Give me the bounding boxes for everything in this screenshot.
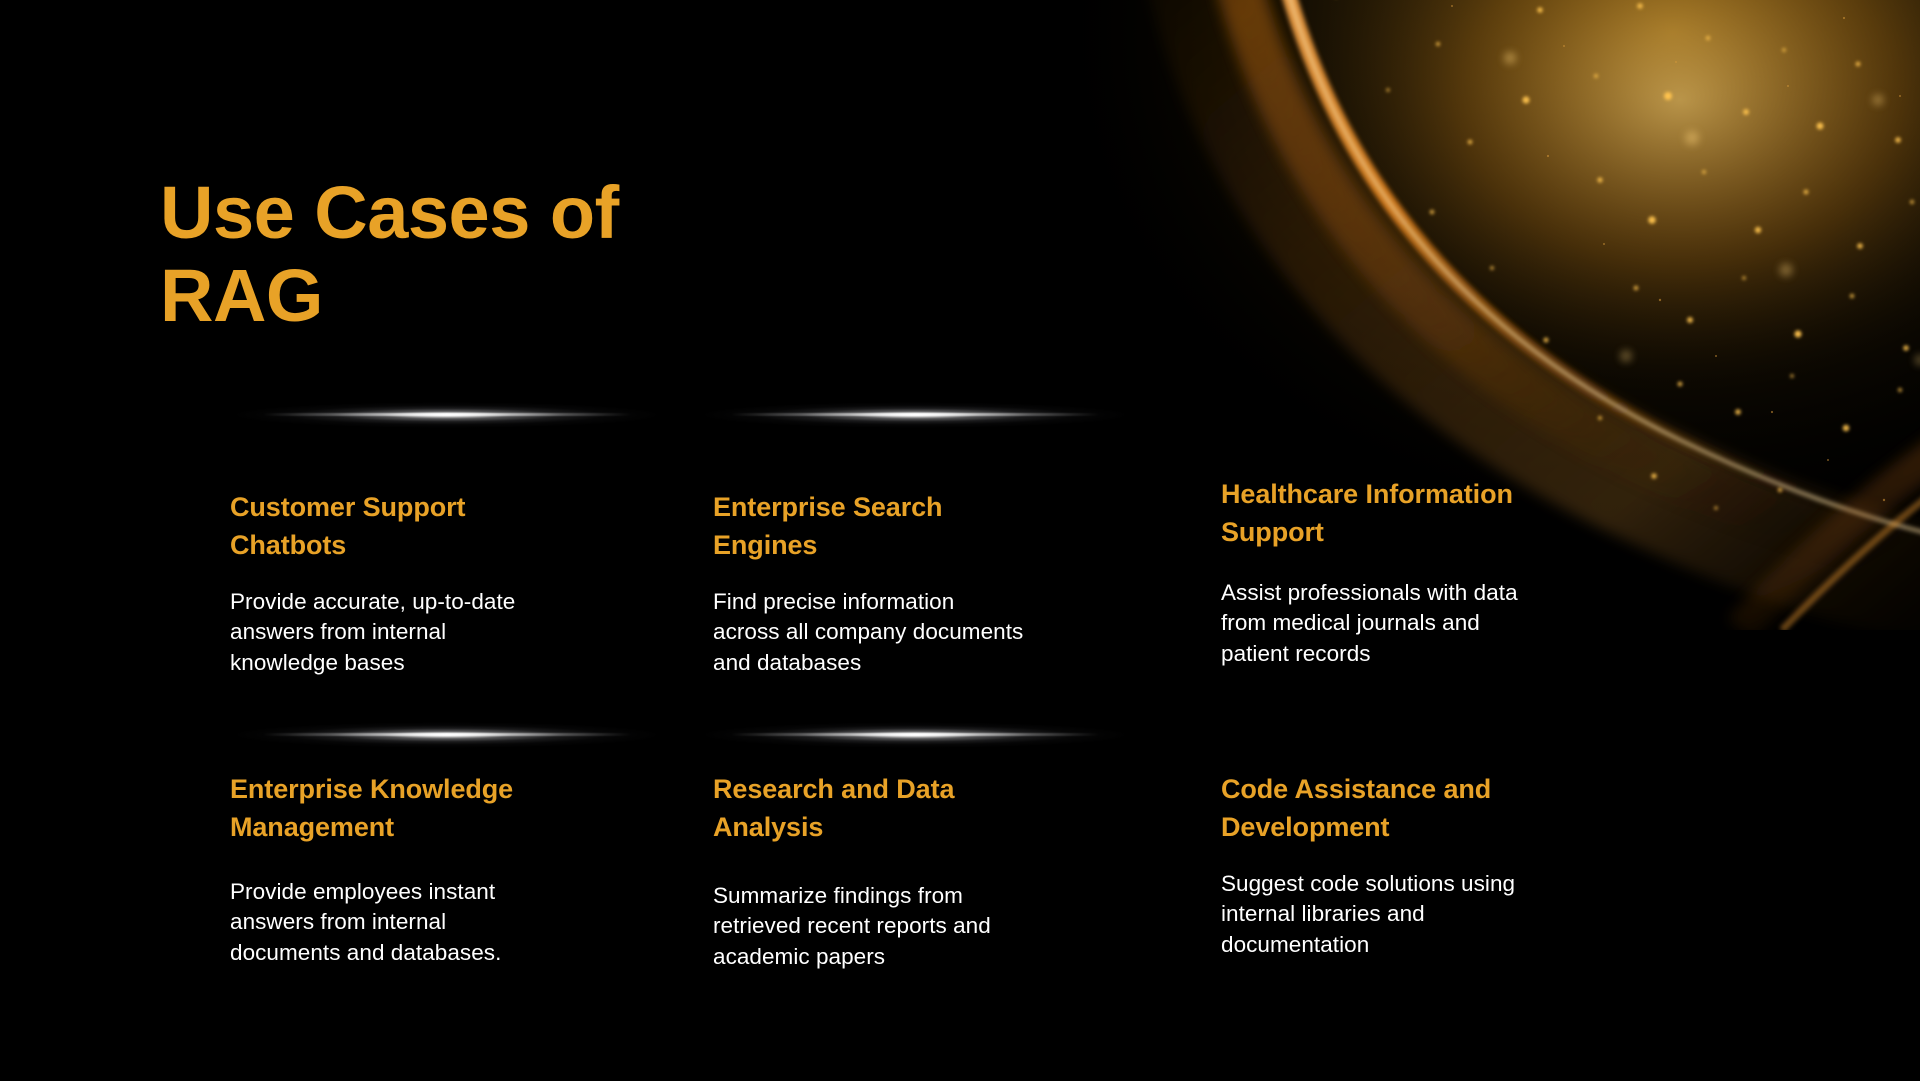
use-case-title: Code Assistance and Development (1221, 770, 1641, 847)
use-case-title: Research and Data Analysis (713, 770, 1113, 847)
slide-root: Use Cases of RAG Customer Support Chatbo… (0, 0, 1920, 1081)
use-case-title: Healthcare Information Support (1221, 475, 1641, 552)
use-case-card: Healthcare Information Support Assist pr… (1221, 475, 1641, 669)
use-case-title: Enterprise Knowledge Management (230, 770, 630, 847)
use-case-card: Enterprise Search Engines Find precise i… (713, 488, 1123, 678)
use-case-card: Enterprise Knowledge Management Provide … (230, 770, 630, 968)
use-case-body: Suggest code solutions using internal li… (1221, 869, 1641, 961)
use-case-card: Research and Data Analysis Summarize fin… (713, 770, 1113, 972)
use-case-title: Enterprise Search Engines (713, 488, 1123, 565)
use-case-body: Assist professionals with data from medi… (1221, 578, 1641, 670)
use-case-body: Provide employees instant answers from i… (230, 877, 630, 969)
use-case-body: Find precise information across all comp… (713, 587, 1123, 679)
use-case-card: Customer Support Chatbots Provide accura… (230, 488, 630, 678)
use-case-title: Customer Support Chatbots (230, 488, 630, 565)
use-case-grid: Customer Support Chatbots Provide accura… (0, 0, 1920, 1081)
use-case-body: Summarize findings from retrieved recent… (713, 881, 1113, 973)
use-case-body: Provide accurate, up-to-date answers fro… (230, 587, 630, 679)
use-case-card: Code Assistance and Development Suggest … (1221, 770, 1641, 960)
